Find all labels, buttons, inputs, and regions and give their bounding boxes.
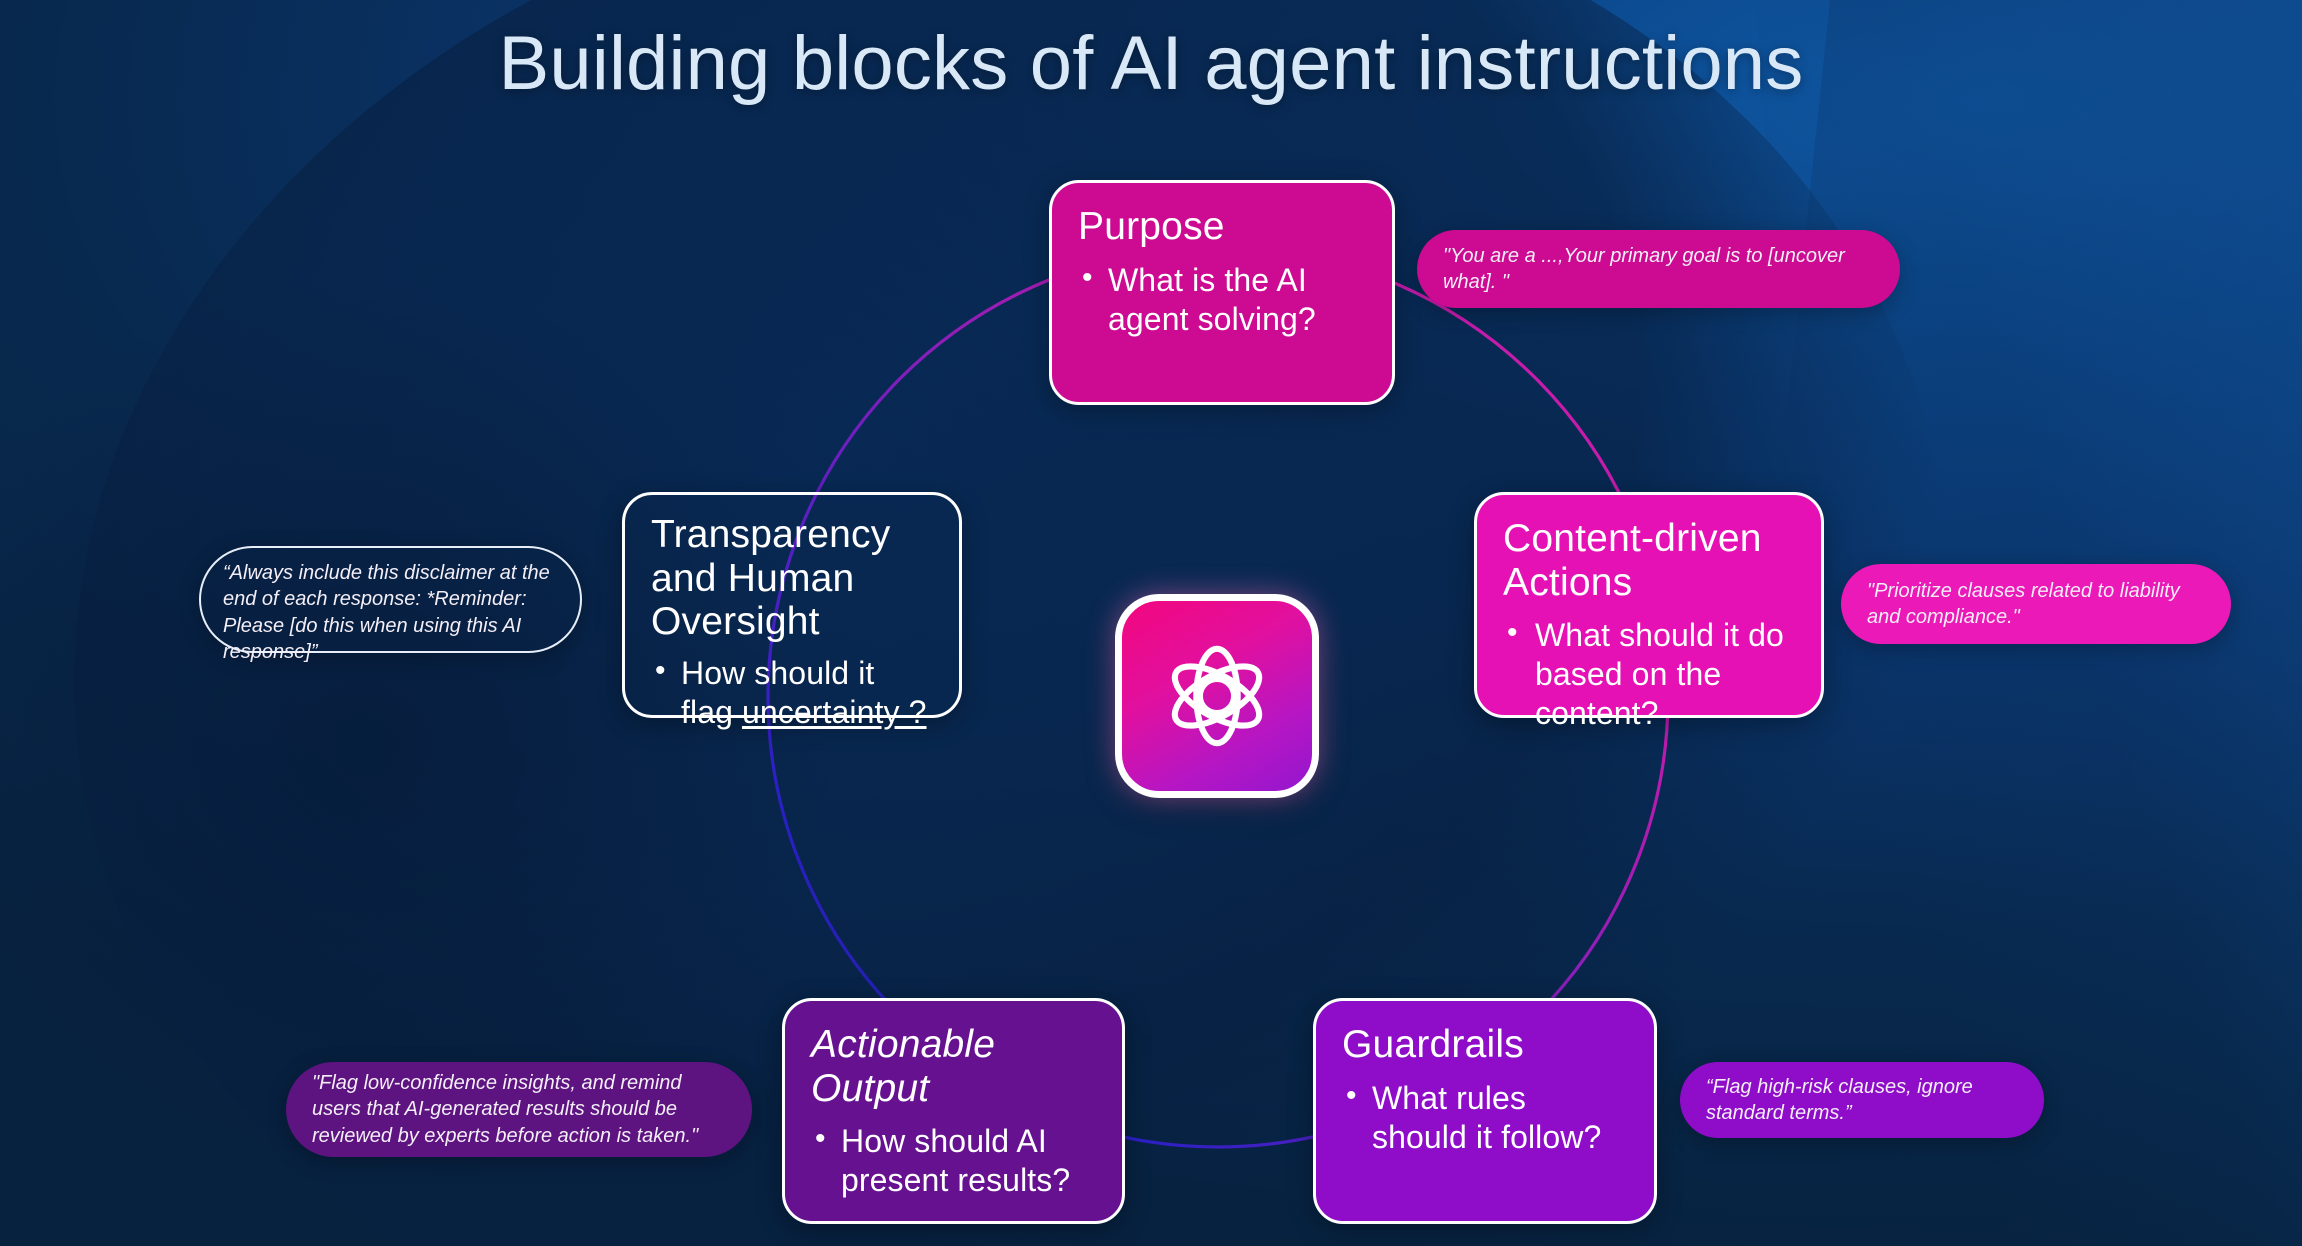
callout-guardrails: “Flag high-risk clauses, ignore standard… <box>1680 1062 2044 1138</box>
callout-content-driven-actions: "Prioritize clauses related to liability… <box>1841 564 2231 644</box>
atom-icon <box>1158 637 1276 755</box>
page-title: Building blocks of AI agent instructions <box>0 22 2302 106</box>
callout-transparency: “Always include this disclaimer at the e… <box>199 546 582 653</box>
callout-actionable-output-text: "Flag low-confidence insights, and remin… <box>312 1070 726 1149</box>
block-card-transparency-and-human-oversight[interactable]: Transparency and Human Oversight How sho… <box>622 492 962 718</box>
card-bullet-transparency: How should it flag uncertainty ? <box>651 654 933 732</box>
card-title-purpose: Purpose <box>1078 205 1366 249</box>
block-card-actionable-output[interactable]: Actionable Output How should AI present … <box>782 998 1125 1224</box>
callout-purpose: "You are a ...,Your primary goal is to [… <box>1417 230 1900 308</box>
block-card-content-driven-actions[interactable]: Content-driven Actions What should it do… <box>1474 492 1824 718</box>
callout-transparency-text: “Always include this disclaimer at the e… <box>223 560 558 666</box>
callout-content-driven-actions-text: "Prioritize clauses related to liability… <box>1867 578 2205 631</box>
card-title-actionable-output: Actionable Output <box>811 1023 1096 1110</box>
card-bullet-purpose: What is the AI agent solving? <box>1078 261 1366 339</box>
card-title-content-driven-actions: Content-driven Actions <box>1503 517 1795 604</box>
center-atom-node[interactable] <box>1115 594 1319 798</box>
block-card-guardrails[interactable]: Guardrails What rules should it follow? <box>1313 998 1657 1224</box>
card-bullet-content-driven-actions: What should it do based on the content? <box>1503 616 1795 733</box>
card-title-guardrails: Guardrails <box>1342 1023 1628 1067</box>
card-title-transparency: Transparency and Human Oversight <box>651 513 933 644</box>
callout-actionable-output: "Flag low-confidence insights, and remin… <box>286 1062 752 1157</box>
card-bullet-guardrails: What rules should it follow? <box>1342 1079 1628 1157</box>
block-card-purpose[interactable]: Purpose What is the AI agent solving? <box>1049 180 1395 405</box>
slide-canvas: Building blocks of AI agent instructions… <box>0 0 2302 1246</box>
callout-guardrails-text: “Flag high-risk clauses, ignore standard… <box>1706 1074 2018 1127</box>
card-bullet-actionable-output: How should AI present results? <box>811 1122 1096 1200</box>
card-bullet-transparency-underlined: uncertainty ? <box>742 694 927 730</box>
callout-purpose-text: "You are a ...,Your primary goal is to [… <box>1443 243 1874 296</box>
